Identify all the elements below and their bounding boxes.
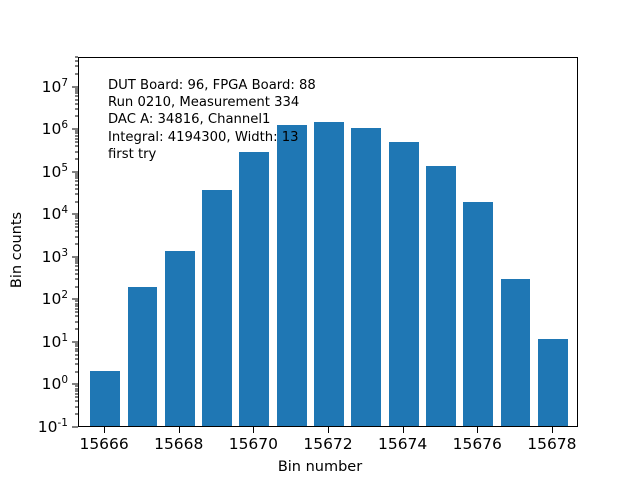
x-tick-label: 15674 <box>378 435 427 453</box>
annotation-line: Run 0210, Measurement 334 <box>108 94 316 111</box>
bar <box>501 279 531 426</box>
annotation-line: first try <box>108 146 316 163</box>
x-axis: Bin number 15666156681567015672156741567… <box>0 427 640 480</box>
x-tick-mark <box>253 427 254 433</box>
y-tick-label: 104 <box>42 205 68 223</box>
x-tick-mark <box>179 427 180 433</box>
y-tick-label: 102 <box>42 290 68 308</box>
x-axis-label: Bin number <box>0 459 640 475</box>
x-tick-label: 15672 <box>303 435 352 453</box>
bar <box>389 142 419 426</box>
bar <box>463 202 493 426</box>
bar <box>426 166 456 426</box>
y-tick-label: 101 <box>42 333 68 351</box>
bar <box>165 251 195 426</box>
annotation-line: DUT Board: 96, FPGA Board: 88 <box>108 77 316 94</box>
annotation-line: DAC A: 34816, Channel1 <box>108 111 316 128</box>
bar <box>90 371 120 426</box>
y-tick-label: 105 <box>42 163 68 181</box>
bar <box>538 339 568 426</box>
bar <box>277 125 307 426</box>
x-tick-mark <box>328 427 329 433</box>
y-tick-label: 103 <box>42 248 68 266</box>
x-tick-label: 15670 <box>229 435 278 453</box>
bin-counts-histogram-figure: 10-1100101102103104105106107 Bin counts … <box>0 0 640 480</box>
bar <box>239 152 269 426</box>
bar <box>351 128 381 426</box>
x-tick-label: 15666 <box>79 435 128 453</box>
x-tick-mark <box>104 427 105 433</box>
bar <box>314 122 344 426</box>
y-axis-label: Bin counts <box>9 140 25 360</box>
annotation-line: Integral: 4194300, Width: 13 <box>108 129 316 146</box>
x-tick-label: 15668 <box>154 435 203 453</box>
x-tick-mark <box>477 427 478 433</box>
x-tick-label: 15678 <box>527 435 576 453</box>
bar <box>202 190 232 426</box>
annotation-text-block: DUT Board: 96, FPGA Board: 88Run 0210, M… <box>108 77 316 163</box>
x-tick-mark <box>552 427 553 433</box>
y-tick-label: 106 <box>42 120 68 138</box>
x-tick-label: 15676 <box>453 435 502 453</box>
y-tick-label: 100 <box>42 375 68 393</box>
x-tick-mark <box>403 427 404 433</box>
bar <box>128 287 158 426</box>
y-tick-label: 107 <box>42 78 68 96</box>
